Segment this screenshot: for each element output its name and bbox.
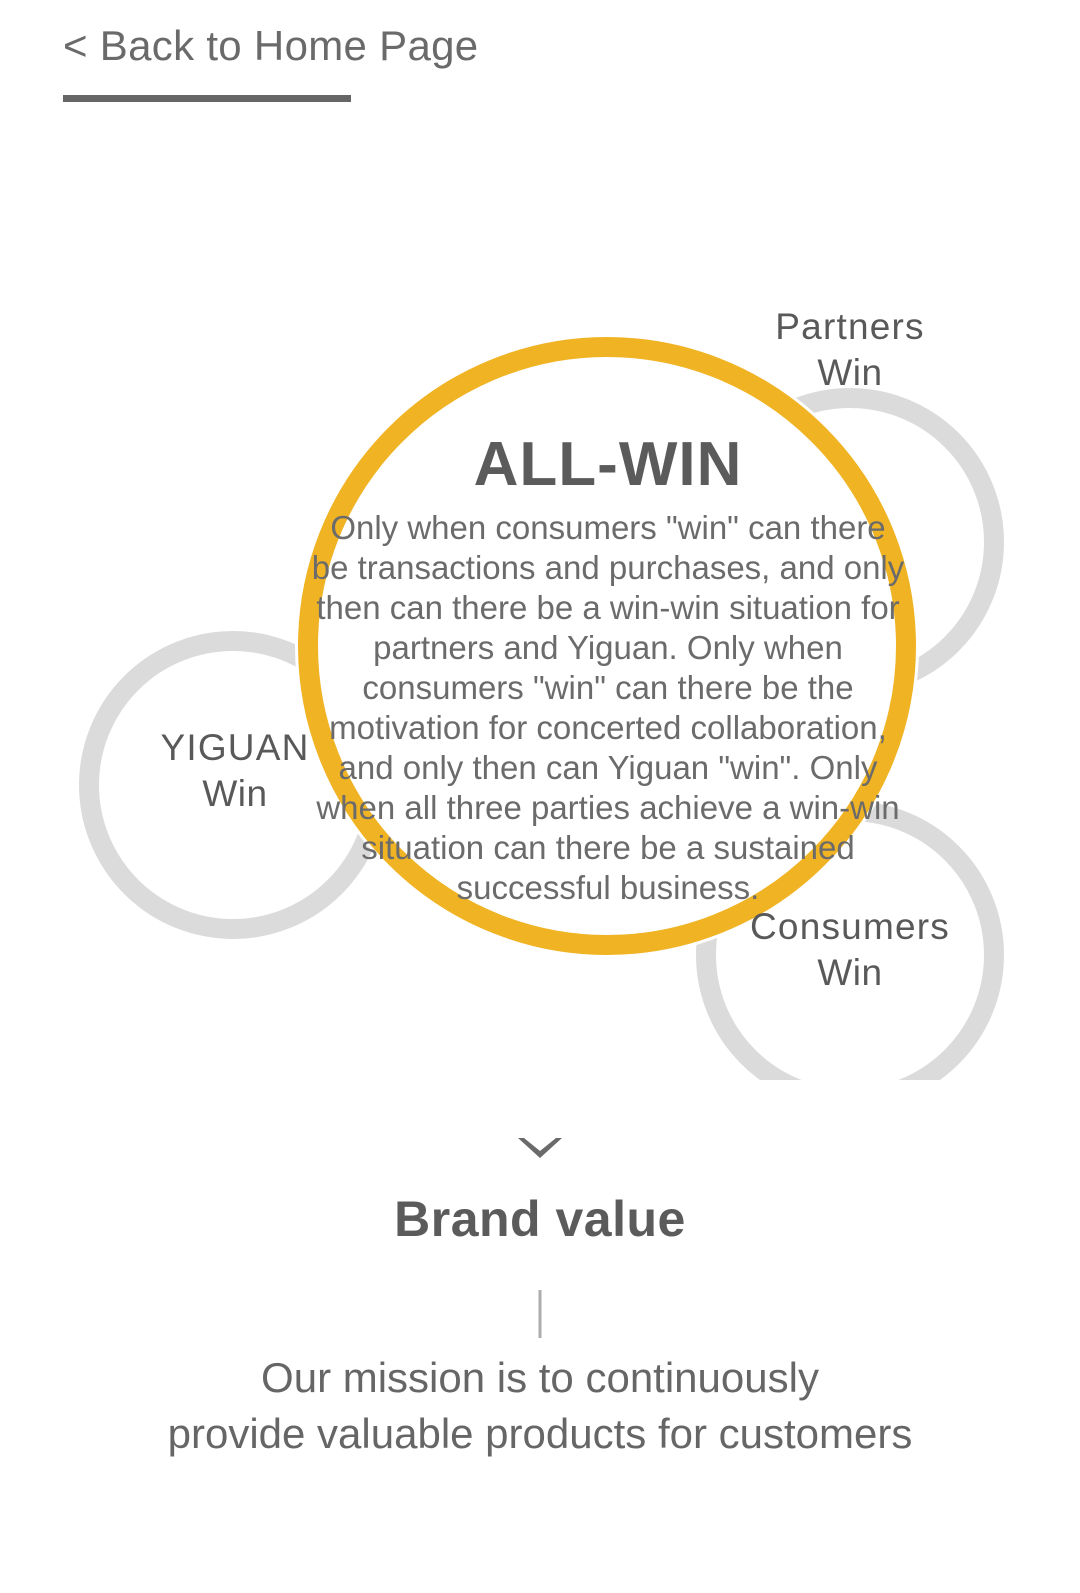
brand-value-heading: Brand value [0,1188,1080,1250]
back-to-home-label: < Back to Home Page [63,18,523,74]
back-to-home-link[interactable]: < Back to Home Page [63,18,523,74]
back-link-underline [63,95,351,102]
ring-all-win [308,347,906,945]
mission-line-1: Our mission is to continuously [0,1350,1080,1406]
chevron-down-icon [512,1128,568,1168]
mission-statement: Our mission is to continuously provide v… [0,1350,1080,1462]
mission-line-2: provide valuable products for customers [0,1406,1080,1462]
diagram-svg [0,180,1080,1080]
section-divider [539,1290,542,1338]
all-win-diagram: Partners Win YIGUAN Win Consumers Win AL… [0,180,1080,1080]
